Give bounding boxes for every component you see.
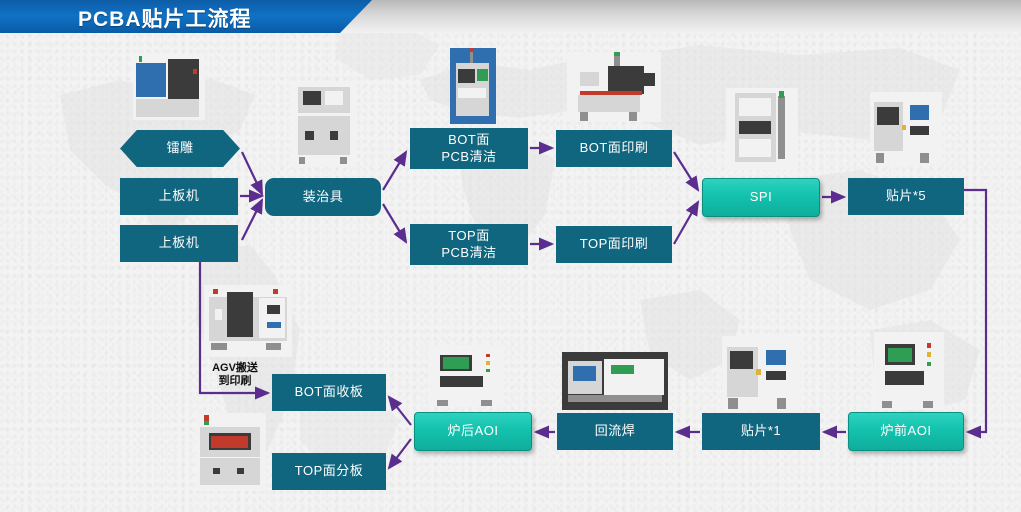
node-loader-2[interactable]: 上板机 [120, 225, 238, 262]
node-top-depanel[interactable]: TOP面分板 [272, 453, 386, 490]
node-loader-1[interactable]: 上板机 [120, 178, 238, 215]
photo-post-aoi-machine [428, 345, 504, 407]
node-fixture-mount[interactable]: 装治具 [265, 178, 381, 216]
photo-agv-robot [204, 285, 292, 357]
node-post-reflow-aoi[interactable]: 炉后AOI [414, 412, 532, 451]
photo-printer-machine [567, 52, 661, 122]
photo-mounter5-machine [870, 92, 942, 166]
node-reflow-oven[interactable]: 回流焊 [557, 413, 673, 450]
node-bot-unload[interactable]: BOT面收板 [272, 374, 386, 411]
photo-reflow-machine [562, 352, 668, 410]
photo-depanel-machine [196, 413, 266, 491]
node-laser-marking[interactable]: 镭雕 [120, 130, 240, 167]
node-mounter-1[interactable]: 贴片*1 [702, 413, 820, 450]
process-flow-diagram: PCBA贴片工流程 [0, 0, 1021, 512]
node-spi[interactable]: SPI [702, 178, 820, 217]
node-top-pcb-clean[interactable]: TOP面 PCB清洁 [410, 224, 528, 265]
node-mounter-5[interactable]: 贴片*5 [848, 178, 964, 215]
photo-pre-aoi-machine [874, 332, 944, 410]
page-title: PCBA贴片工流程 [78, 3, 252, 33]
node-top-print[interactable]: TOP面印刷 [556, 226, 672, 263]
node-bot-pcb-clean[interactable]: BOT面 PCB清洁 [410, 128, 528, 169]
photo-laser-marking-machine [133, 55, 205, 120]
photo-spi-machine [726, 88, 798, 170]
photo-fixture-mount-machine [291, 82, 356, 167]
photo-mounter1-machine [722, 336, 800, 412]
node-pre-reflow-aoi[interactable]: 炉前AOI [848, 412, 964, 451]
photo-pcb-cleaner-machine [450, 48, 496, 124]
node-bot-print[interactable]: BOT面印刷 [556, 130, 672, 167]
label-agv-transfer: AGV搬送 到印刷 [200, 362, 270, 388]
